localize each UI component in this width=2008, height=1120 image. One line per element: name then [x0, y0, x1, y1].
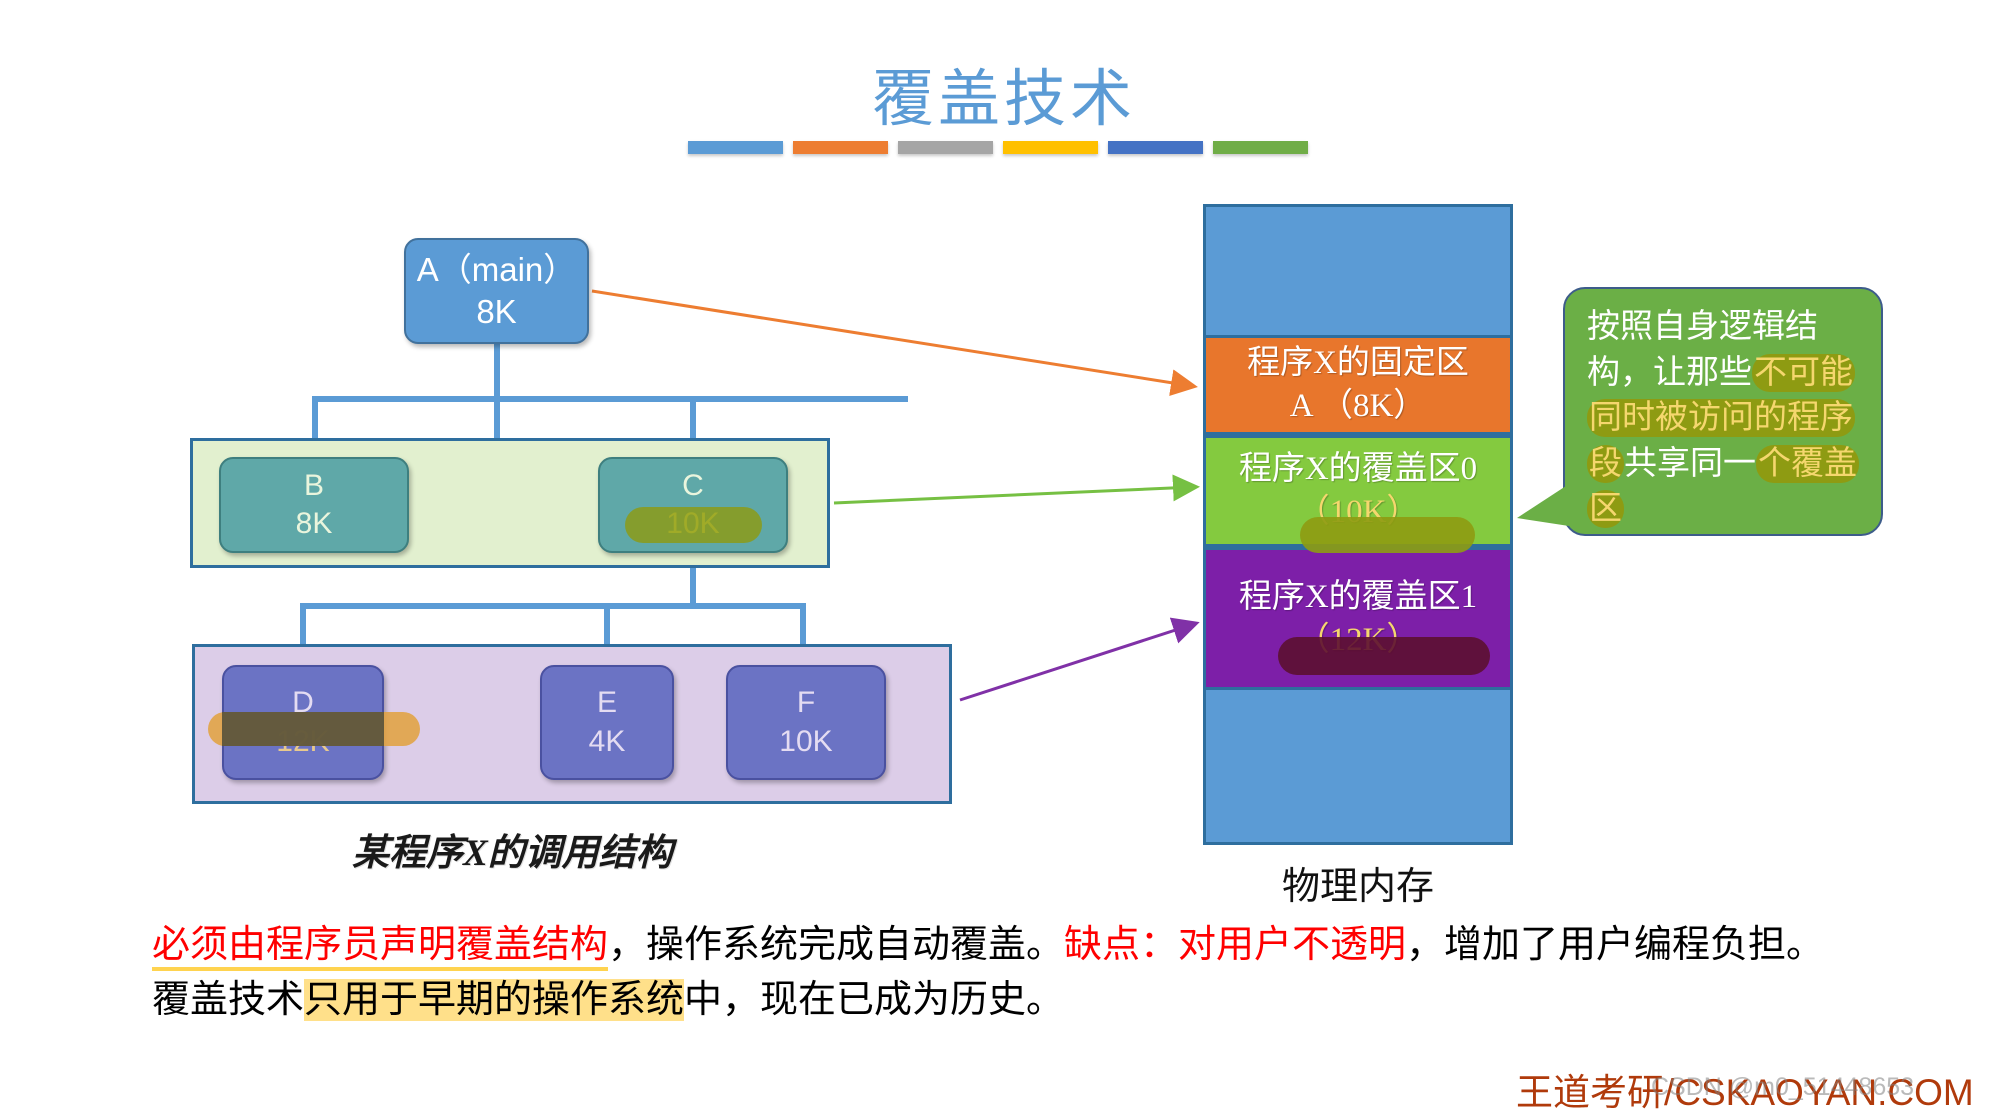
- memory-block-overlay-area-1-label: 程序X的覆盖区1: [1239, 576, 1477, 619]
- memory-block-fixed-area[interactable]: 程序X的固定区 A （8K）: [1206, 335, 1510, 435]
- csdn-watermark: CSDN @m0_51448653: [1651, 1073, 1914, 1102]
- rule-bar-6: [1213, 141, 1308, 154]
- tree-node-c-name: C: [682, 467, 704, 505]
- highlight-pill-overlay-1-size: [1278, 637, 1490, 675]
- bottom-note-seg-3: 缺点：对用户不透明: [1064, 924, 1406, 966]
- call-tree-caption: 某程序X的调用结构: [352, 822, 673, 876]
- bottom-note-line-2: 覆盖技术只用于早期的操作系统中，现在已成为历史。: [152, 973, 1932, 1028]
- bottom-note-line-1: 必须由程序员声明覆盖结构，操作系统完成自动覆盖。缺点：对用户不透明，增加了用户编…: [152, 918, 1932, 973]
- callout-text: 按照自身逻辑结构，让那些不可能同时被访问的程序段共享同一个覆盖区: [1587, 305, 1867, 533]
- tree-node-c-size: 10K: [666, 505, 719, 543]
- callout-bubble: 按照自身逻辑结构，让那些不可能同时被访问的程序段共享同一个覆盖区: [1563, 287, 1883, 536]
- tree-node-f[interactable]: F 10K: [726, 665, 886, 780]
- tree-node-f-size: 10K: [779, 723, 832, 761]
- tree-node-b[interactable]: B 8K: [219, 457, 409, 553]
- tree-node-e-size: 4K: [589, 723, 626, 761]
- memory-block-fixed-area-sublabel: A （8K）: [1290, 385, 1427, 428]
- arrow-a-to-fixed: [592, 291, 1192, 386]
- physical-memory-caption: 物理内存: [1203, 855, 1513, 910]
- bottom-note-seg-6: 只用于早期的操作系统: [304, 979, 684, 1021]
- bottom-note-seg-1: 必须由程序员声明覆盖结构: [152, 924, 608, 971]
- tree-node-d-name: D: [292, 684, 314, 722]
- highlight-pill-overlay-0-size: [1300, 517, 1475, 553]
- tree-node-c[interactable]: C 10K: [598, 457, 788, 553]
- bottom-note-seg-2: ，操作系统完成自动覆盖。: [608, 924, 1064, 966]
- tree-node-d[interactable]: D 12K: [222, 665, 384, 780]
- rule-bar-4: [1003, 141, 1098, 154]
- tree-node-a[interactable]: A（main） 8K: [404, 238, 589, 344]
- title-rule-bars: [688, 141, 1308, 154]
- connector-c-bus: [300, 603, 806, 609]
- tree-node-e-name: E: [597, 684, 617, 722]
- slide-canvas: 覆盖技术 A（main） 8K B 8K C 10K D 12K E 4K: [0, 0, 2008, 1120]
- tree-node-a-name: A（main）: [417, 249, 577, 291]
- callout-tail: [1517, 484, 1569, 526]
- tree-node-e[interactable]: E 4K: [540, 665, 674, 780]
- tree-node-f-name: F: [797, 684, 815, 722]
- bottom-note-seg-5: 覆盖技术: [152, 979, 304, 1021]
- rule-bar-2: [793, 141, 888, 154]
- callout-highlight-2: 个覆盖区: [1587, 445, 1859, 529]
- rule-bar-3: [898, 141, 993, 154]
- tree-node-d-size: 12K: [276, 723, 329, 761]
- memory-block-fixed-area-label: 程序X的固定区: [1247, 342, 1469, 385]
- arrow-f-to-overlay1: [960, 624, 1194, 700]
- arrow-c-to-overlay0: [834, 487, 1194, 503]
- bottom-note-seg-4: ，增加了用户编程负担。: [1406, 924, 1824, 966]
- tree-node-b-size: 8K: [296, 505, 333, 543]
- connector-a-stem: [494, 344, 500, 440]
- page-title: 覆盖技术: [0, 48, 2008, 138]
- connector-a-bus: [312, 396, 908, 402]
- rule-bar-1: [688, 141, 783, 154]
- rule-bar-5: [1108, 141, 1203, 154]
- bottom-note-seg-7: 中，现在已成为历史。: [684, 979, 1064, 1021]
- tree-node-b-name: B: [304, 467, 324, 505]
- memory-block-overlay-area-0-label: 程序X的覆盖区0: [1239, 448, 1477, 491]
- bottom-note: 必须由程序员声明覆盖结构，操作系统完成自动覆盖。缺点：对用户不透明，增加了用户编…: [152, 918, 1932, 1029]
- tree-node-a-size: 8K: [476, 291, 516, 333]
